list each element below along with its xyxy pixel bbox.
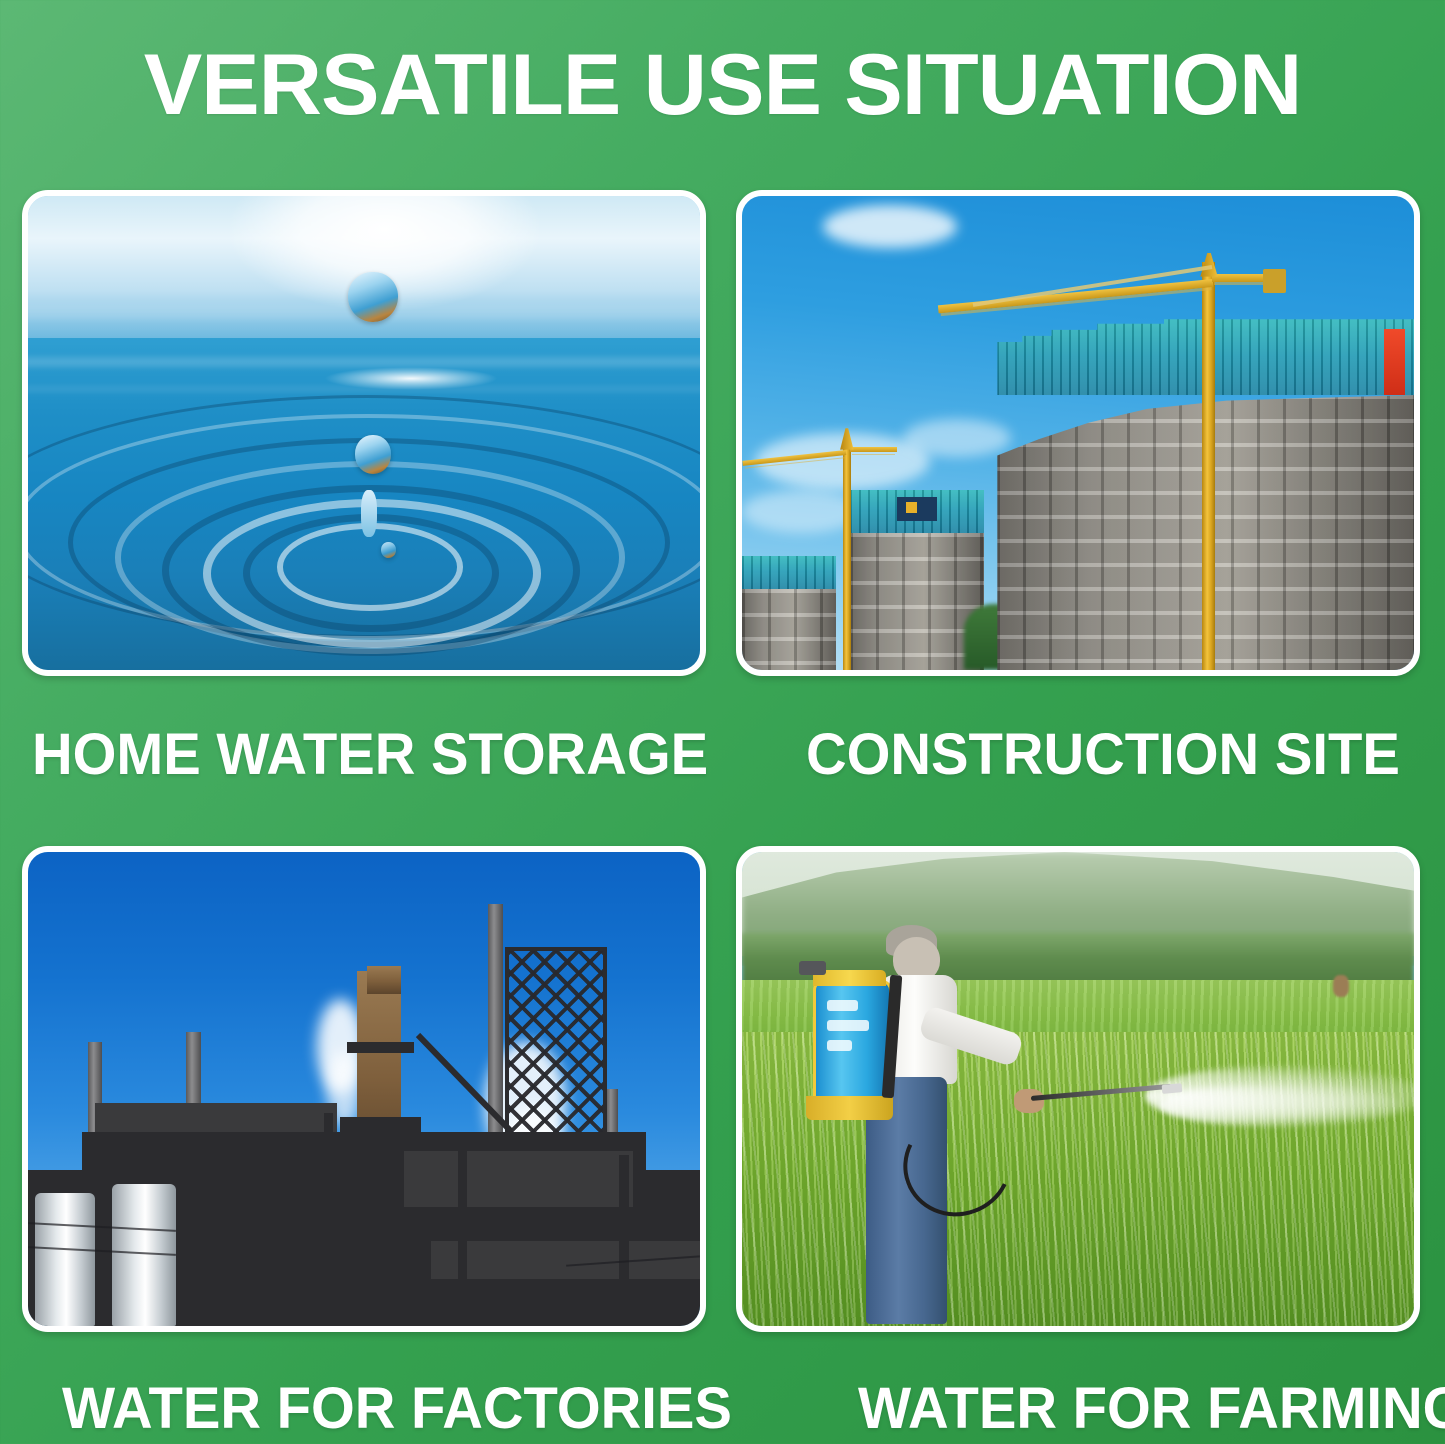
promo-graphic: VERSATILE USE SITUATION <box>0 0 1445 1444</box>
card-caption-home-water-storage: HOME WATER STORAGE <box>32 726 708 784</box>
use-case-card-water-for-factories[interactable] <box>22 846 706 1332</box>
card-caption-water-for-factories: WATER FOR FACTORIES <box>62 1380 732 1438</box>
card-caption-construction-site: CONSTRUCTION SITE <box>806 726 1400 784</box>
use-case-card-water-for-farming[interactable] <box>736 846 1420 1332</box>
scene-tower-cranes-highrise <box>742 196 1414 670</box>
scene-water-droplet-ripples <box>28 196 700 670</box>
scene-industrial-refinery <box>28 852 700 1326</box>
use-case-card-construction-site[interactable] <box>736 190 1420 676</box>
photo-frame-farming <box>736 846 1420 1332</box>
use-case-card-home-water-storage[interactable] <box>22 190 706 676</box>
scene-farmer-spraying-rice-field <box>742 852 1414 1326</box>
photo-frame-construction-site <box>736 190 1420 676</box>
photo-frame-factory <box>22 846 706 1332</box>
card-caption-water-for-farming: WATER FOR FARMING <box>858 1380 1445 1438</box>
photo-frame-water-droplet <box>22 190 706 676</box>
use-case-grid: HOME WATER STORAGE <box>0 0 1445 1444</box>
